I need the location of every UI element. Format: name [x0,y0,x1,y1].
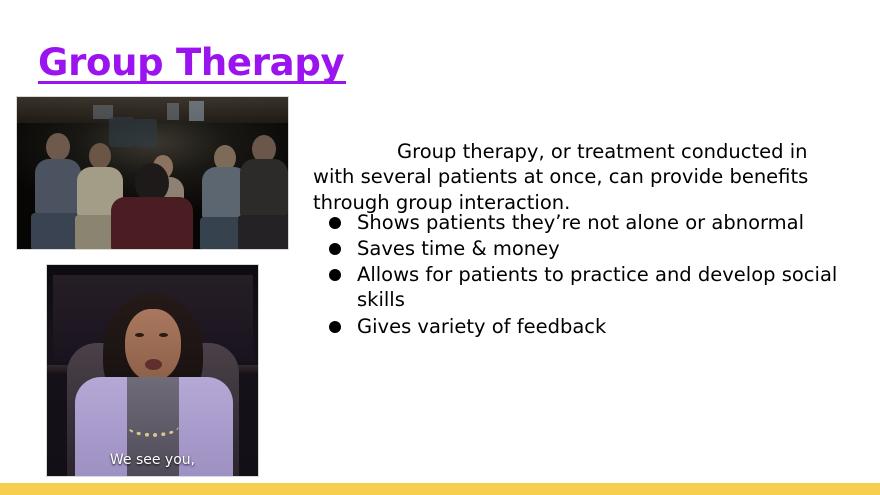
video-caption: We see you, [47,452,258,468]
person-eye [135,333,144,337]
wall-poster [189,101,204,121]
list-item-label: Allows for patients to practice and deve… [357,263,837,311]
video-still-scene [47,265,258,476]
bullet-dot-icon [329,217,341,229]
page-title-text: Group Therapy [38,41,344,84]
page-title: Group Therapy [38,44,344,83]
video-still-photo: We see you, [46,264,259,477]
title-underline [38,81,346,84]
person-head [89,143,111,169]
slide-accent-bar [0,483,880,495]
list-item-label: Shows patients they’re not alone or abno… [357,211,804,234]
bullet-dot-icon [329,243,341,255]
person-torso [240,159,288,217]
seated-person-foreground [109,163,195,249]
list-item: Shows patients they’re not alone or abno… [325,210,845,235]
bullet-dot-icon [329,269,341,281]
list-item-label: Saves time & money [357,237,560,260]
benefits-bullet-list: Shows patients they’re not alone or abno… [325,210,845,340]
wall-poster [167,103,179,120]
person-head [46,133,70,161]
pearl-necklace [127,415,179,437]
list-item-label: Gives variety of feedback [357,315,606,338]
person-legs [238,215,289,250]
presentation-slide: Group Therapy [0,0,880,495]
list-item: Saves time & money [325,236,845,261]
list-item: Gives variety of feedback [325,314,845,339]
group-therapy-scene [17,97,288,249]
group-therapy-photo [16,96,289,250]
bullet-dot-icon [329,321,341,333]
seated-person [235,127,289,249]
person-eye [159,333,168,337]
person-torso [111,197,193,250]
person-mouth [145,359,162,370]
person-face [125,309,181,381]
stacked-chair [135,119,157,147]
body-paragraph: Group therapy, or treatment conducted in… [313,139,843,216]
list-item: Allows for patients to practice and deve… [325,262,845,312]
